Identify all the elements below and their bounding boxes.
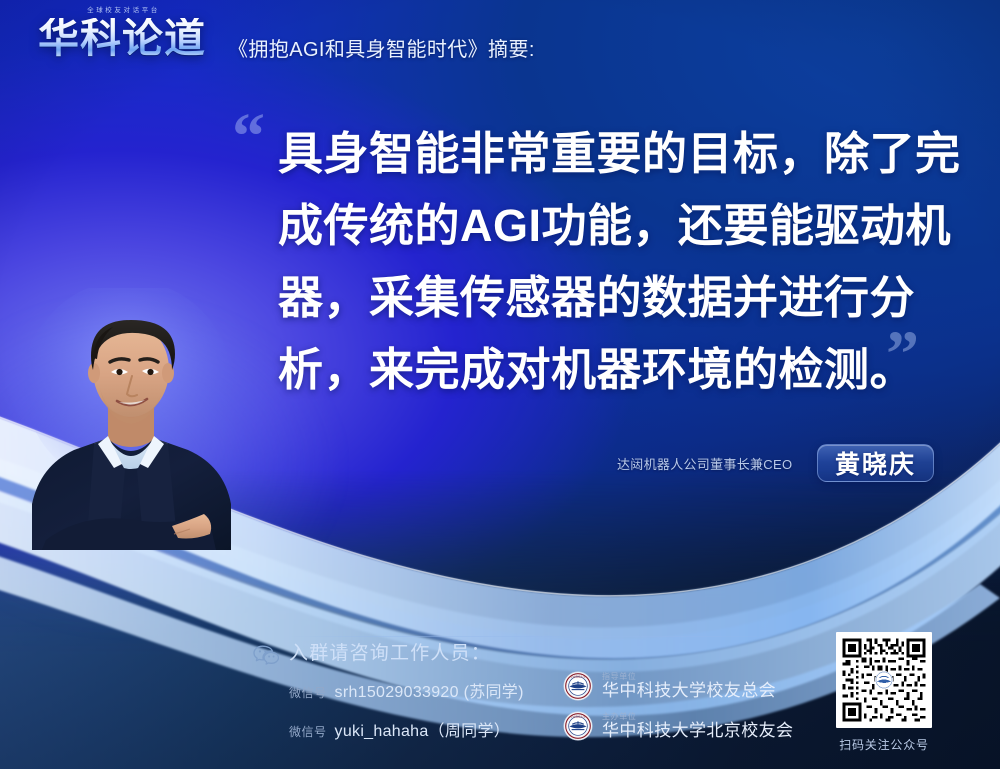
poster-header: 全球校友对话平台 华科论道 《拥抱AGI和具身智能时代》摘要: [0, 0, 1000, 95]
wechat-contact-row[interactable]: 微信号 yuki_hahaha（周同学） [289, 717, 510, 741]
poster-canvas: 全球校友对话平台 华科论道 《拥抱AGI和具身智能时代》摘要: “ 具身智能非常… [0, 0, 1000, 769]
wechat-icon [253, 645, 279, 667]
speaker-portrait [22, 288, 240, 550]
qr-code-icon[interactable] [836, 632, 932, 728]
wechat-id: yuki_hahaha（周同学） [335, 717, 511, 741]
speaker-name: 黄晓庆 [835, 445, 916, 481]
svg-text:华中科技大学: 华中科技大学 [570, 715, 586, 719]
qr-caption: 扫码关注公众号 [828, 736, 940, 753]
quote-close-mark: ” [886, 322, 919, 388]
quote-open-mark: “ [232, 104, 265, 170]
svg-text:华中科技大学: 华中科技大学 [570, 675, 586, 679]
quote-line: 成传统的AGI功能，还要能驱动机 [278, 190, 950, 262]
brand-name: 华科论道 [38, 18, 206, 59]
page-title: 《拥抱AGI和具身智能时代》摘要: [228, 40, 535, 60]
brand-tagline: 全球校友对话平台 [84, 8, 160, 15]
footer-divider [288, 636, 784, 637]
sponsor-kicker: 主办单位 [602, 712, 793, 721]
quote-line: 析，来完成对机器环境的检测。 [278, 334, 950, 406]
speaker-name-badge: 黄晓庆 [817, 444, 934, 482]
wechat-label: 微信号 [289, 723, 327, 740]
sponsor-row: 华中科技大学 指导单位 华中科技大学校友总会 [563, 671, 776, 701]
wechat-label: 微信号 [289, 684, 327, 701]
sponsor-name: 华中科技大学校友总会 [602, 682, 776, 701]
sponsor-row: 华中科技大学 主办单位 华中科技大学北京校友会 [563, 711, 793, 741]
sponsor-kicker: 指导单位 [602, 672, 776, 681]
university-seal-icon: 华中科技大学 [563, 671, 593, 701]
quote-line: 具身智能非常重要的目标，除了完 [278, 118, 950, 190]
contact-heading: 入群请咨询工作人员： [289, 638, 491, 665]
quote-line: 器，采集传感器的数据并进行分 [278, 262, 950, 334]
sponsor-name: 华中科技大学北京校友会 [602, 722, 793, 741]
quote-text-block: 具身智能非常重要的目标，除了完 成传统的AGI功能，还要能驱动机 器，采集传感器… [278, 118, 950, 406]
speaker-attribution: 达闼机器人公司董事长兼CEO 黄晓庆 [617, 446, 792, 480]
speaker-role: 达闼机器人公司董事长兼CEO [617, 454, 792, 473]
university-seal-icon: 华中科技大学 [563, 711, 593, 741]
brand-logo[interactable]: 全球校友对话平台 华科论道 [24, 8, 220, 78]
wechat-contact-row[interactable]: 微信号 srh15029033920 (苏同学) [289, 678, 524, 702]
wechat-id: srh15029033920 (苏同学) [335, 678, 524, 702]
